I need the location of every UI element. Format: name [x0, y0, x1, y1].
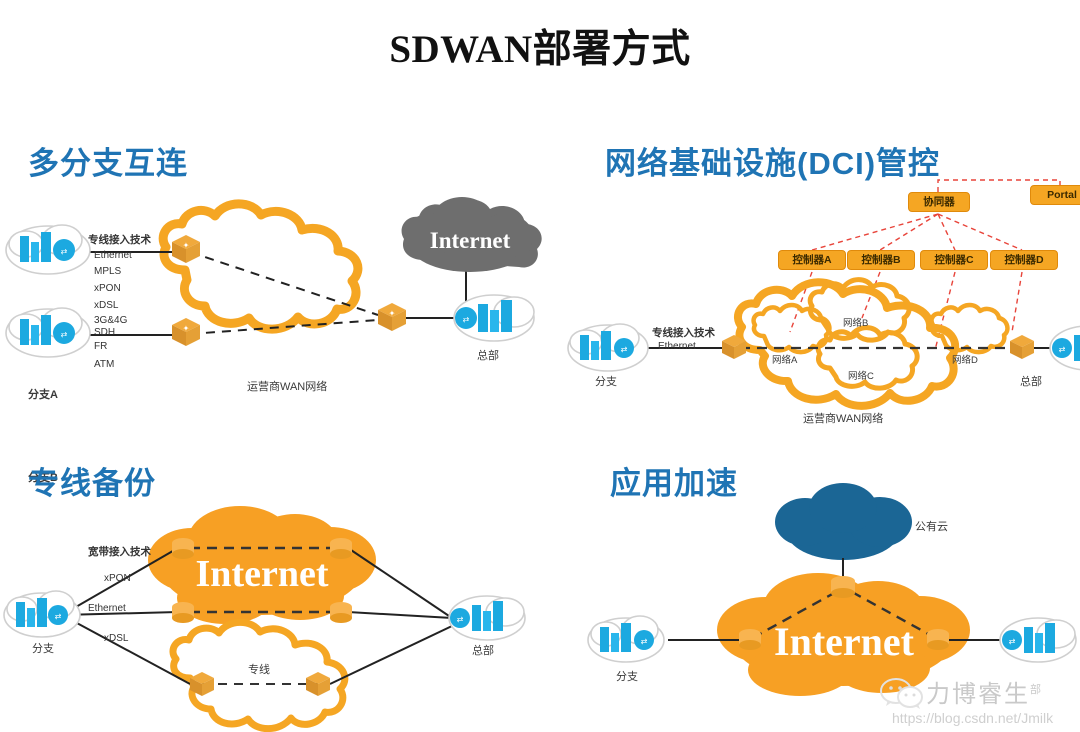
- quadrant-leased-line-backup: 专线备份: [0, 440, 560, 732]
- watermark-brand-text: 力博睿生: [926, 682, 1030, 708]
- network-b-label: 网络B: [843, 315, 868, 329]
- watermark-brand: 力博睿生部: [926, 674, 1043, 709]
- tech-item-ethernet: Ethernet: [94, 250, 132, 261]
- hq-node: ⇄: [454, 295, 534, 341]
- network-a-label: 网络A: [772, 352, 797, 366]
- hq-label: 总部: [477, 347, 499, 363]
- tech-item-mpls: MPLS: [94, 266, 121, 277]
- svg-text:⇄: ⇄: [463, 315, 470, 324]
- link-leased-hq: [330, 626, 452, 684]
- orchestrator-box[interactable]: 协同器: [908, 192, 970, 212]
- svg-text:✦: ✦: [183, 241, 190, 250]
- network-c-label: 网络C: [848, 368, 874, 382]
- ctrl-link-d: [938, 214, 1022, 250]
- controller-c-box[interactable]: 控制器C: [920, 250, 988, 270]
- tech-item-ethernet-dci: Ethernet: [658, 341, 696, 352]
- hq-node-visual-dci: ⇄: [1030, 320, 1080, 400]
- svg-text:⇄: ⇄: [61, 330, 68, 339]
- tech-item-xdsl: xDSL: [94, 300, 118, 311]
- router-accel-top: [831, 576, 855, 598]
- network-d-label: 网络D: [952, 352, 978, 366]
- tech-header-broadband: 宽带接入技术: [88, 544, 151, 559]
- svg-text:⇄: ⇄: [621, 345, 628, 354]
- svg-text:⇄: ⇄: [641, 637, 648, 646]
- dci-diagram: ⇄: [560, 120, 1080, 430]
- tech-header-dci: 专线接入技术: [652, 325, 715, 340]
- watermark-brand-sup: 部: [1030, 684, 1043, 696]
- tech-item-xpon-backup: xPON: [104, 573, 131, 584]
- tech-item-xpon: xPON: [94, 283, 121, 294]
- svg-text:⇄: ⇄: [1059, 345, 1066, 354]
- tech-item-3g4g: 3G&4G: [94, 315, 127, 326]
- svg-text:⇄: ⇄: [1009, 637, 1016, 646]
- branch-label-backup: 分支: [32, 640, 54, 656]
- link-internet-hq-bottom: [348, 612, 452, 618]
- svg-text:⇄: ⇄: [55, 612, 62, 621]
- watermark-url: https://blog.csdn.net/Jmilk: [892, 710, 1053, 726]
- hq-node-backup: ⇄: [449, 596, 525, 640]
- wechat-icon: [880, 676, 924, 710]
- tech-header-leased: 专线接入技术: [88, 232, 151, 247]
- svg-text:⇄: ⇄: [457, 615, 464, 624]
- branch-a-node: ⇄: [6, 225, 90, 274]
- quadrant-dci-management: 网络基础设施(DCI)管控: [560, 120, 1080, 430]
- portal-box[interactable]: Portal: [1030, 185, 1080, 205]
- branch-label-accel: 分支: [616, 668, 638, 684]
- operator-wan-cloud-dci: [738, 280, 1007, 406]
- quadrant-multi-branch: 多分支互连: [0, 120, 560, 420]
- branch-label-dci: 分支: [595, 373, 617, 389]
- router-leased-east: [306, 672, 330, 696]
- operator-wan-label: 运营商WAN网络: [247, 378, 327, 394]
- internet-cloud-label: Internet: [414, 228, 526, 254]
- tech-item-ethernet-backup: Ethernet: [88, 603, 126, 614]
- router-branch-a: ✦: [172, 235, 200, 263]
- tech-item-sdh: SDH: [94, 327, 115, 338]
- svg-text:✦: ✦: [389, 309, 396, 318]
- watermark: 力博睿生部 https://blog.csdn.net/Jmilk: [880, 672, 1080, 730]
- tech-item-xdsl-backup: xDSL: [104, 633, 128, 644]
- leased-line-label: 专线: [248, 661, 270, 677]
- router-wan-egress: ✦: [378, 303, 406, 331]
- internet-cloud-label-backup: Internet: [162, 552, 362, 596]
- router-internet-sw: [172, 602, 194, 623]
- branch-node-backup: ⇄: [4, 591, 80, 637]
- public-cloud: [775, 483, 912, 560]
- svg-text:✦: ✦: [183, 324, 190, 333]
- operator-wan-cloud: [163, 204, 358, 329]
- router-branch-b: ✦: [172, 318, 200, 346]
- operator-wan-label-dci: 运营商WAN网络: [803, 410, 883, 426]
- hq-node-accel: ⇄: [1000, 618, 1076, 662]
- svg-text:⇄: ⇄: [61, 247, 68, 256]
- internet-cloud-label-accel: Internet: [738, 618, 950, 665]
- hq-label-backup: 总部: [472, 642, 494, 658]
- ctrl-link-b: [880, 214, 938, 250]
- ctrl-link-a: [812, 214, 938, 250]
- multi-branch-diagram: ⇄ ⇄ ⇄ ✦: [0, 120, 560, 420]
- public-cloud-label: 公有云: [915, 518, 948, 534]
- controller-d-box[interactable]: 控制器D: [990, 250, 1058, 270]
- branch-a-label: 分支A: [28, 386, 58, 402]
- branch-node-dci: ⇄: [568, 324, 648, 371]
- tech-item-atm: ATM: [94, 359, 114, 370]
- branch-node-accel: ⇄: [588, 616, 664, 662]
- branch-b-node: ⇄: [6, 308, 90, 357]
- ctrl-net-d: [1012, 272, 1022, 332]
- ctrl-link-c: [938, 214, 955, 250]
- tech-item-fr: FR: [94, 341, 107, 352]
- link-internet-hq-top: [348, 548, 452, 618]
- controller-a-box[interactable]: 控制器A: [778, 250, 846, 270]
- router-internet-se: [330, 602, 352, 623]
- page-title: SDWAN部署方式: [0, 18, 1080, 74]
- controller-b-box[interactable]: 控制器B: [847, 250, 915, 270]
